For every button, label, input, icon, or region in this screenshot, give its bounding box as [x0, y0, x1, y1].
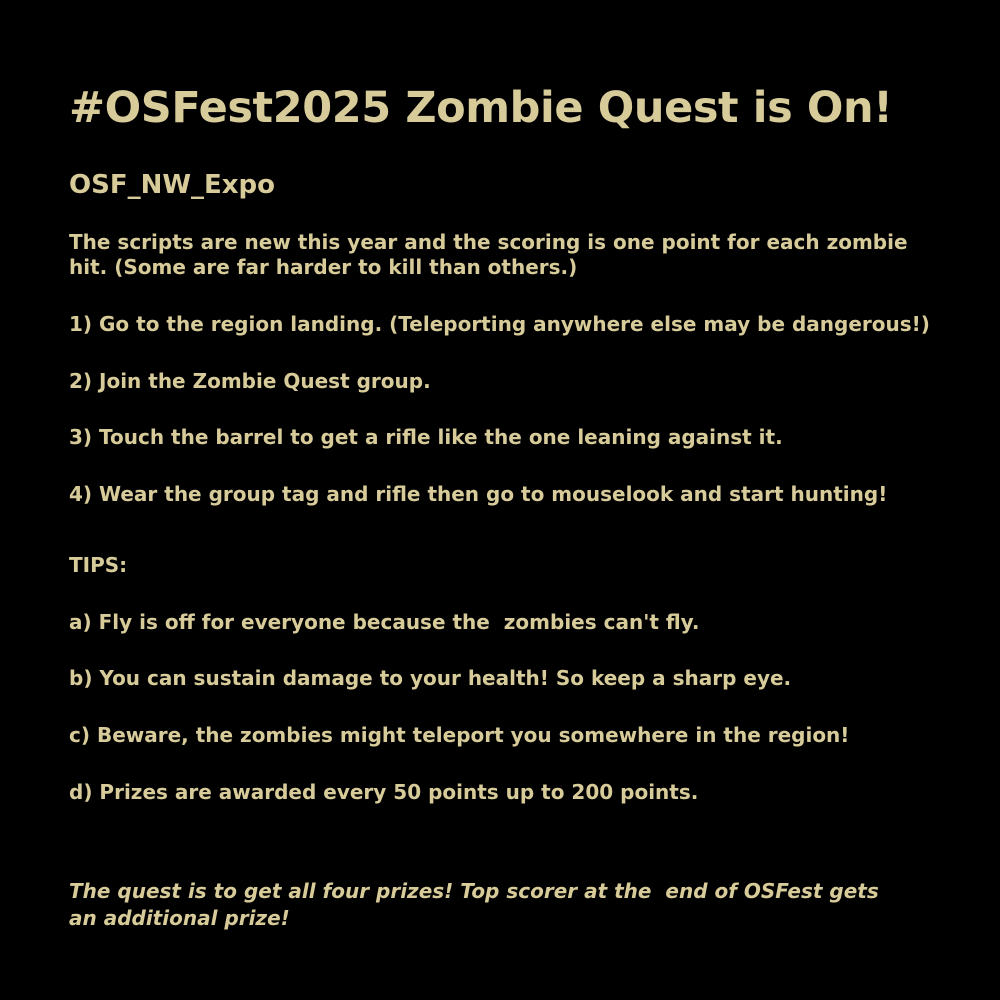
poster-canvas: #OSFest2025 Zombie Quest is On! OSF_NW_E… [0, 0, 1000, 1000]
tips-heading: TIPS: [69, 553, 940, 579]
intro-paragraph: The scripts are new this year and the sc… [69, 230, 940, 281]
tip-item-a: a) Fly is off for everyone because the z… [69, 610, 940, 636]
step-item-1: 1) Go to the region landing. (Teleportin… [69, 312, 940, 338]
page-title: #OSFest2025 Zombie Quest is On! [69, 0, 940, 131]
step-item-3: 3) Touch the barrel to get a rifle like … [69, 425, 940, 451]
region-name-heading: OSF_NW_Expo [69, 131, 940, 200]
tip-item-d: d) Prizes are awarded every 50 points up… [69, 780, 940, 806]
closing-note: The quest is to get all four prizes! Top… [69, 832, 899, 931]
step-item-2: 2) Join the Zombie Quest group. [69, 369, 940, 395]
step-item-4: 4) Wear the group tag and rifle then go … [69, 482, 940, 508]
tip-item-b: b) You can sustain damage to your health… [69, 666, 940, 692]
instructions-body: The scripts are new this year and the sc… [69, 200, 940, 931]
tip-item-c: c) Beware, the zombies might teleport yo… [69, 723, 940, 749]
